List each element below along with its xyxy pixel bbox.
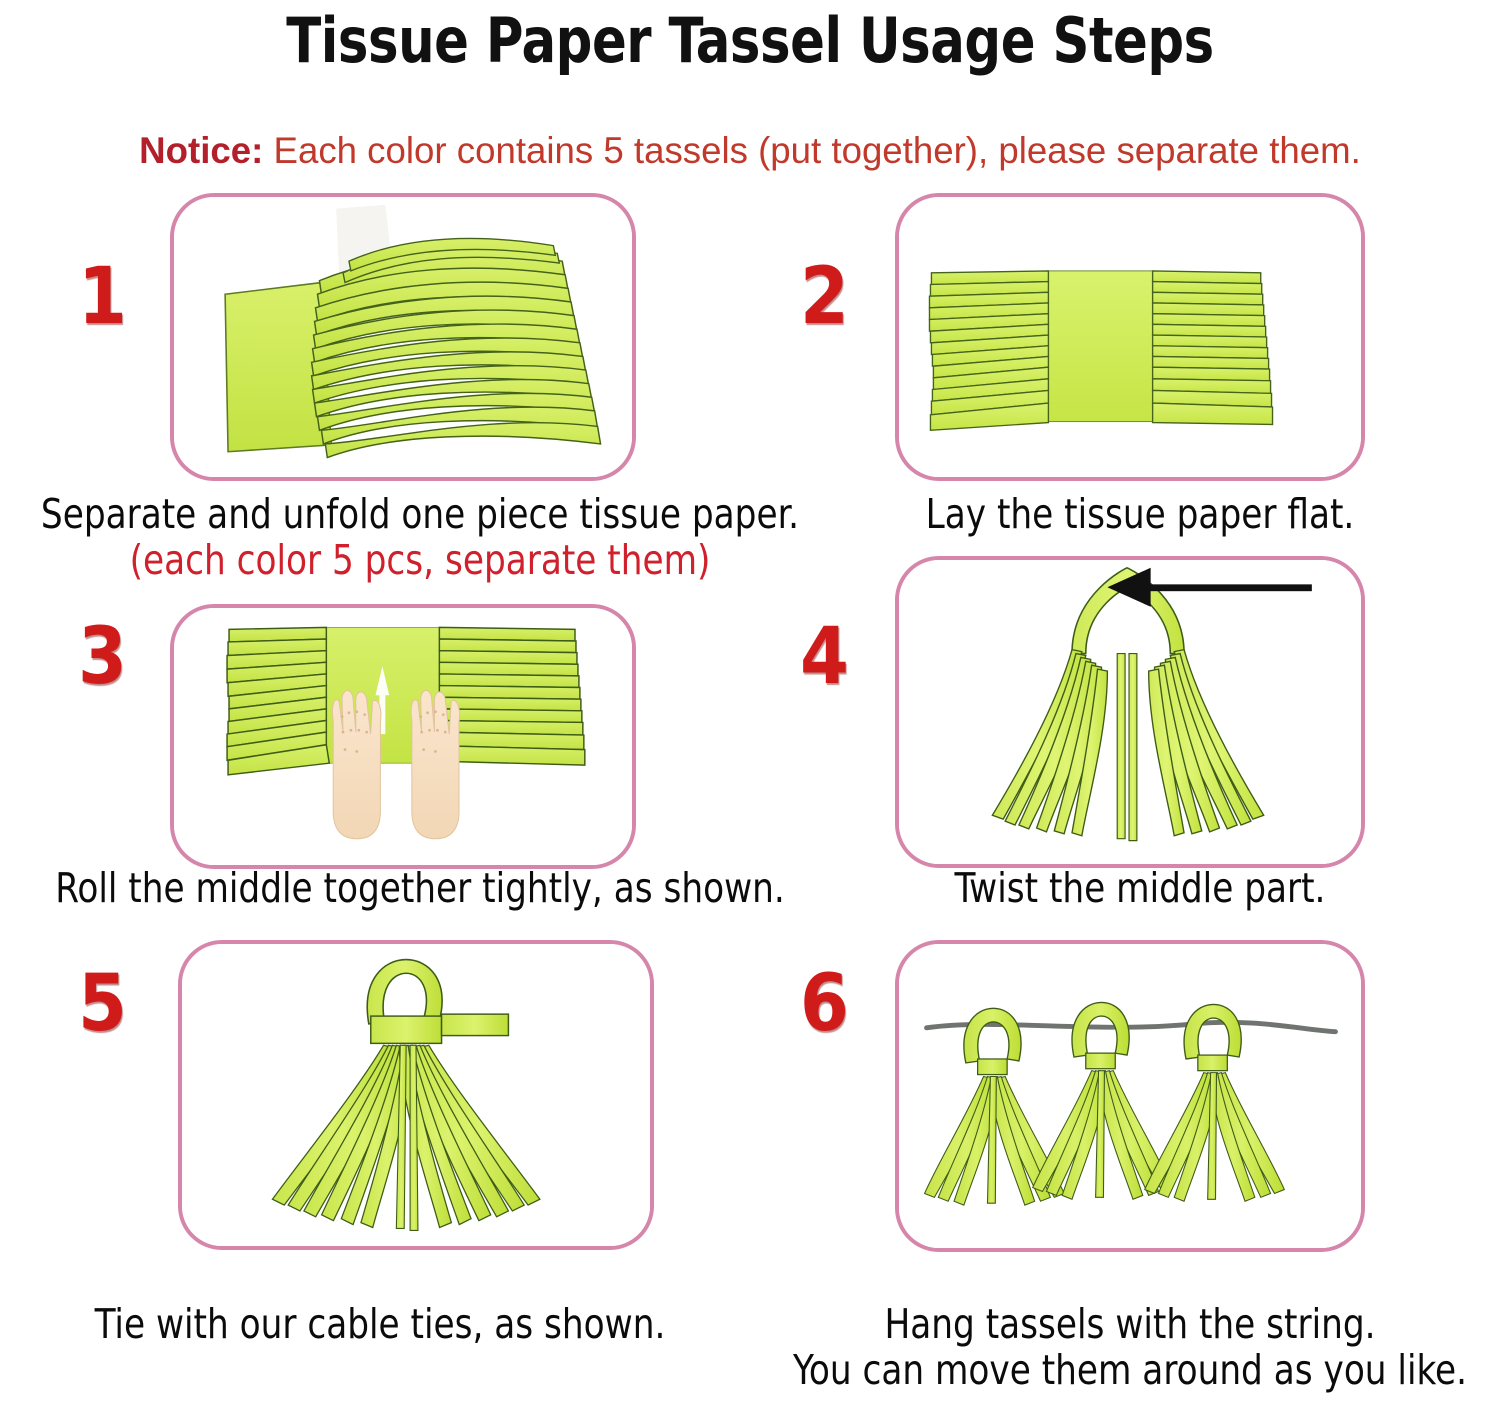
step-number-2: 2 [800,258,849,336]
step-6-illustration [895,940,1365,1252]
step-3-illustration [170,604,636,869]
right-hand [411,690,459,838]
step-2-illustration [895,193,1365,481]
step-5-caption: Tie with our cable ties, as shown. [27,1302,734,1348]
step-number-4: 4 [800,618,849,696]
step-1-caption-block: Separate and unfold one piece tissue pap… [0,492,840,584]
step-5-illustration [178,940,654,1250]
three-tassels-on-string-svg [899,944,1361,1248]
step-1-caption: Separate and unfold one piece tissue pap… [29,492,810,538]
step-4-illustration [895,556,1365,868]
fringed-tissue-unfolded-svg [174,197,632,477]
page-title: Tissue Paper Tassel Usage Steps [60,4,1440,77]
step-2-caption-block: Lay the tissue paper flat. [830,492,1450,538]
step-3-caption-block: Roll the middle together tightly, as sho… [0,866,840,912]
notice-line: Notice: Each color contains 5 tassels (p… [8,130,1493,172]
step-4-caption: Twist the middle part. [852,866,1429,912]
step-number-5: 5 [78,965,127,1043]
step-number-3: 3 [78,618,127,696]
twisted-tassel-with-arrow-svg [899,560,1361,864]
hands-rolling-middle-svg [174,608,632,865]
step-number-6: 6 [800,965,849,1043]
step-2-caption: Lay the tissue paper flat. [852,492,1429,538]
step-5-caption-block: Tie with our cable ties, as shown. [0,1302,760,1348]
instruction-sheet: Tissue Paper Tassel Usage Steps Notice: … [0,0,1500,1404]
step-6-caption: Hang tassels with the string. [786,1302,1474,1348]
step-1-illustration [170,193,636,481]
notice-label: Notice: [139,130,263,171]
tissue-laid-flat-svg [899,197,1361,477]
notice-text: Each color contains 5 tassels (put toget… [263,130,1360,171]
step-3-caption: Roll the middle together tightly, as sho… [29,866,810,912]
step-number-1: 1 [78,258,127,336]
step-1-sub-caption: (each color 5 pcs, separate them) [29,538,810,584]
step-6-caption-block: Hang tassels with the string. You can mo… [760,1302,1500,1394]
tassel-tied-with-cable-tie-svg [182,944,650,1246]
step-4-caption-block: Twist the middle part. [830,866,1450,912]
left-hand [332,690,380,838]
step-6-sub-caption: You can move them around as you like. [786,1348,1474,1394]
